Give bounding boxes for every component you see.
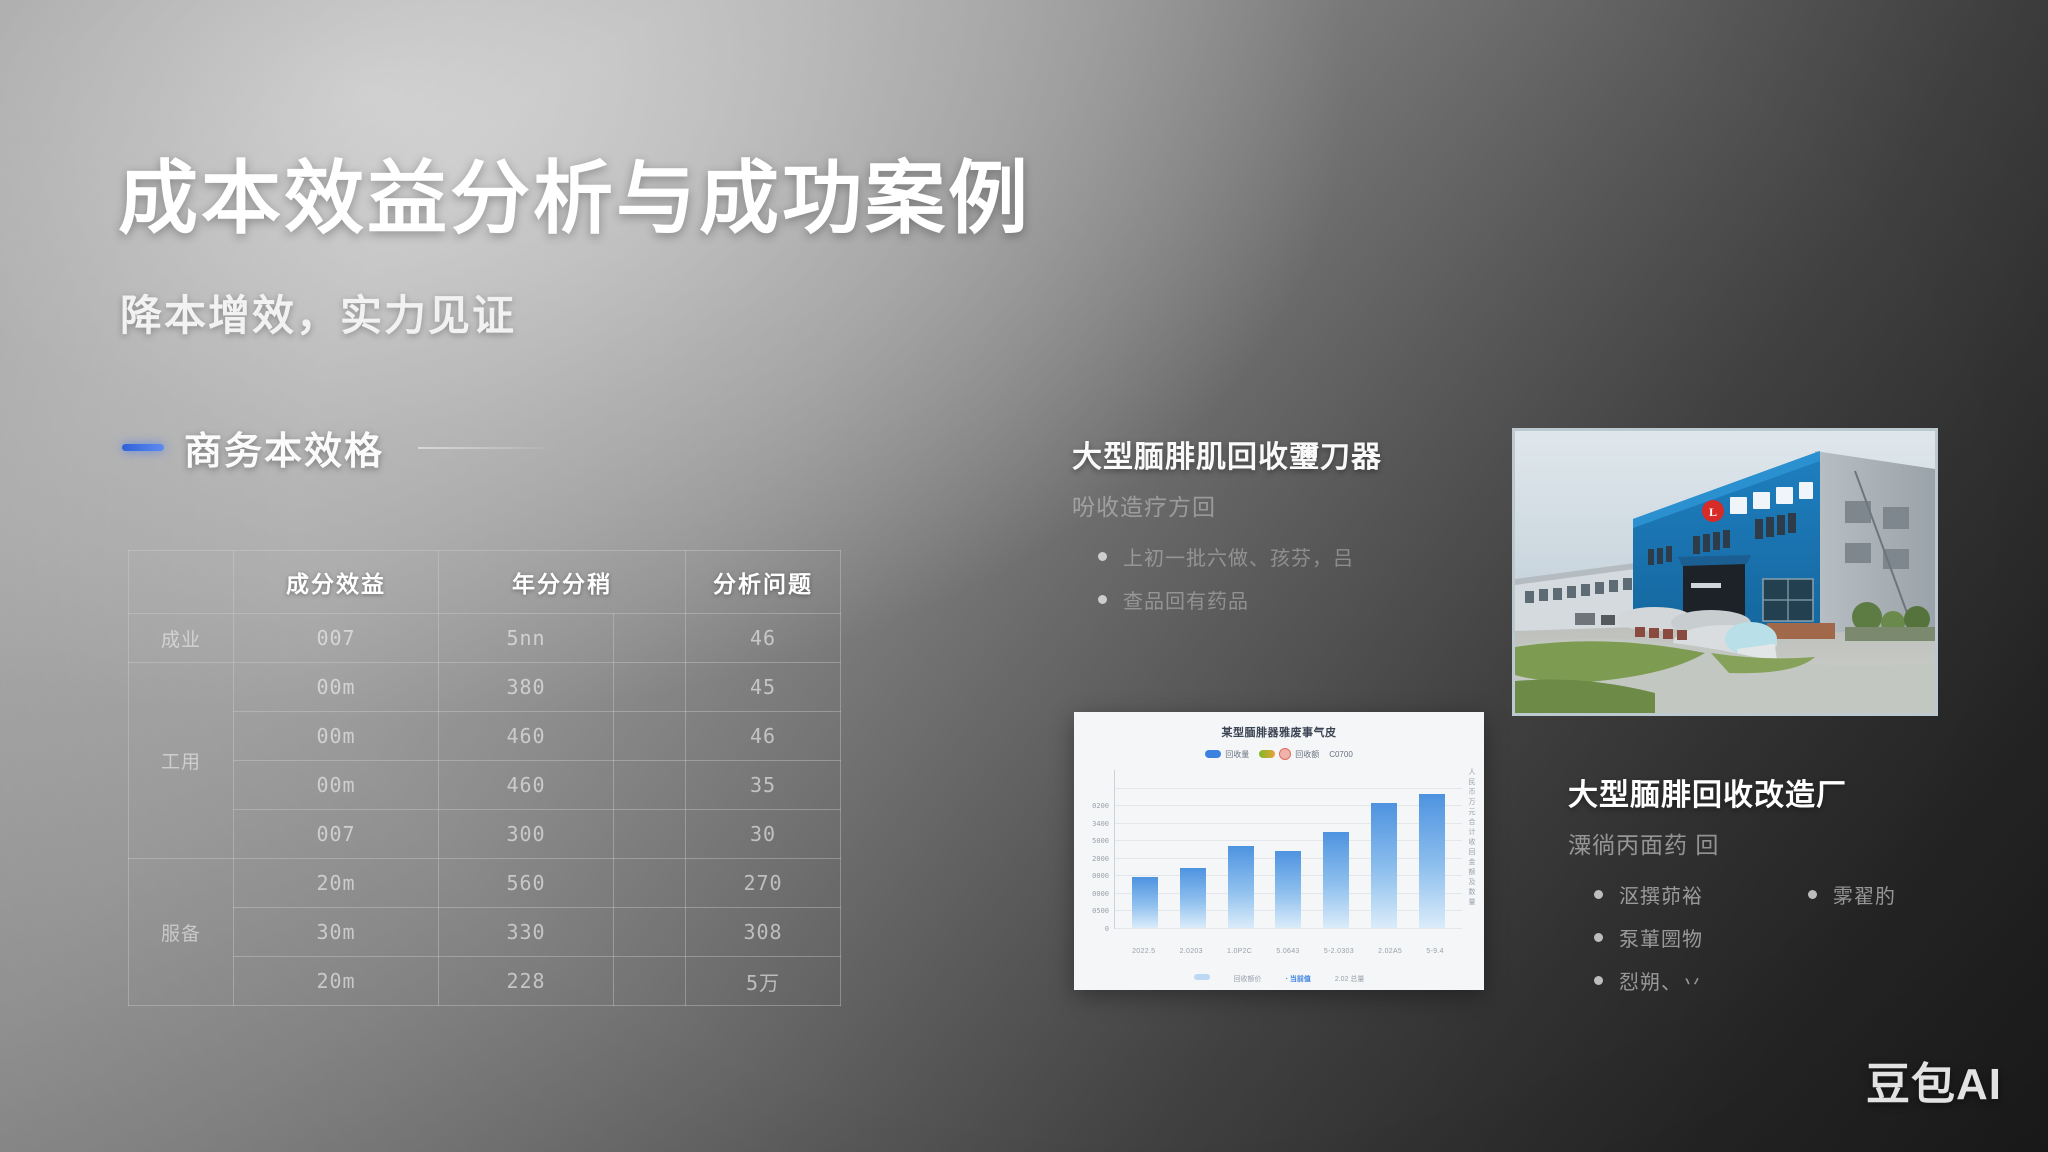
cell-a: 00m [234,712,439,761]
cell-d: 46 [686,712,841,761]
chart-y-tick: 0000 [1092,872,1115,880]
table-header-cell-a: 成分效益 [234,551,439,614]
case-bottom-subheading: 潥徜丙面药 回 [1568,826,2008,860]
cost-table-container: 成分效益 年分分稍 分析问题 成业 007 5nn 46 工用 00m 380 [128,550,840,1006]
chart-bar [1180,868,1206,928]
legend-swatch-icon [1259,750,1275,758]
cell-b: 228 [439,957,614,1006]
cell-d: 46 [686,614,841,663]
section-header: 商务本效格 [122,420,548,475]
chart-x-tick: 5-9.4 [1426,948,1443,955]
list-item: 泵莗圐物 [1568,923,1768,952]
cell-c [614,957,686,1006]
bullet-dot-icon [1594,890,1603,899]
page-subtitle: 降本增效，实力见证 [120,282,516,343]
legend-item-2: C0700 [1329,750,1353,759]
cell-c [614,908,686,957]
cell-b: 560 [439,859,614,908]
section-rule-divider [418,447,548,449]
chart-legend: 回收量 回收额 C0700 [1074,748,1484,760]
cell-d: 30 [686,810,841,859]
table-header-cell-d: 分析问题 [686,551,841,614]
chart-bar [1323,832,1349,928]
chart-y-tick: 0 [1105,925,1115,933]
list-item-label: 查品回有药品 [1123,585,1249,614]
chart-x-tick-labels: 2022.52.02031.0P2C5.06435-2.03032.02A55-… [1120,948,1456,955]
chart-x-tick: 5-2.0303 [1324,948,1354,955]
chart-bar [1132,877,1158,928]
chart-x-tick: 2.0203 [1180,948,1203,955]
chart-title: 某型腼腓器雅废事气皮 [1074,724,1484,740]
chart-y-tick: 5000 [1092,837,1115,845]
case-block-top: 大型腼腓肌回收瓕刀器 吩收造疗方回 上初一批六做、孩芬，吕 查品回有药品 [1072,432,1492,628]
cell-a: 00m [234,663,439,712]
table-row: 成业 007 5nn 46 [129,614,841,663]
chart-x-tick: 1.0P2C [1227,948,1252,955]
list-item-label: 㤠朔、丷 [1619,966,1703,995]
chart-bars [1121,770,1456,928]
chart-bar [1228,846,1254,928]
table-row: 20m 228 5万 [129,957,841,1006]
slide-root: 成本效益分析与成功案例 降本增效，实力见证 商务本效格 成分效益 年分分稍 分析… [0,0,2048,1152]
list-item: 雺翟肑 [1782,880,1982,909]
chart-footer-notes: 回收额价 · 当前值 2.02 总量 [1074,974,1484,984]
case-bottom-heading: 大型腼腓回收改造厂 [1568,770,2008,814]
cell-d: 5万 [686,957,841,1006]
cell-c [614,712,686,761]
cell-a: 20m [234,859,439,908]
cell-b: 300 [439,810,614,859]
cell-b: 5nn [439,614,614,663]
chart-gridline: 0 [1115,928,1462,929]
factory-photo: L [1512,428,1938,716]
chart-y-tick: 0500 [1092,907,1115,915]
svg-text:L: L [1709,505,1717,519]
list-item: 沤撰茆裕 [1568,880,1768,909]
legend-label: C0700 [1329,750,1353,759]
footer-note-1: 回收额价 [1234,974,1262,984]
table-header-cell-b: 年分分稍 [439,551,686,614]
footer-note-3: 2.02 总量 [1335,974,1365,984]
row-group-label: 工用 [129,663,234,859]
chart-y-tick: 0000 [1092,890,1115,898]
cell-c [614,614,686,663]
case-top-bullets: 上初一批六做、孩芬，吕 查品回有药品 [1072,542,1492,614]
case-bottom-bullets: 沤撰茆裕 雺翟肑 泵莗圐物 㤠朔、丷 [1568,880,2008,1009]
cell-d: 45 [686,663,841,712]
row-group-label: 服备 [129,859,234,1006]
cell-a: 00m [234,761,439,810]
chart-y-tick: 0200 [1092,802,1115,810]
table-row: 服备 20m 560 270 [129,859,841,908]
cell-b: 460 [439,712,614,761]
legend-dot-icon [1279,748,1291,760]
case-top-heading: 大型腼腓肌回收瓕刀器 [1072,432,1492,476]
table-row: 00m 460 35 [129,761,841,810]
case-block-bottom: 大型腼腓回收改造厂 潥徜丙面药 回 沤撰茆裕 雺翟肑 泵莗圐物 㤠朔、丷 [1568,770,2008,1009]
cell-d: 270 [686,859,841,908]
cell-c [614,663,686,712]
accent-dash-icon [122,444,164,451]
cell-c [614,859,686,908]
cell-b: 460 [439,761,614,810]
footer-note-0 [1194,974,1210,984]
table-row: 工用 00m 380 45 [129,663,841,712]
legend-label: 回收额 [1295,749,1319,760]
factory-photo-illustration: L [1515,431,1935,713]
cell-c [614,810,686,859]
chart-x-tick: 5.0643 [1276,948,1299,955]
list-item: 上初一批六做、孩芬，吕 [1072,542,1492,571]
table-row: 00m 460 46 [129,712,841,761]
chart-y-tick: 2000 [1092,855,1115,863]
cell-b: 380 [439,663,614,712]
chart-y-axis-label: 人民币万元合计收回金额及数量 [1466,768,1478,908]
legend-item-0: 回收量 [1205,749,1249,760]
bullet-dot-icon [1098,595,1107,604]
chart-x-tick: 2.02A5 [1378,948,1402,955]
cell-a: 007 [234,810,439,859]
cell-a: 007 [234,614,439,663]
cell-d: 35 [686,761,841,810]
cell-a: 30m [234,908,439,957]
section-title: 商务本效格 [184,420,384,475]
list-item: 㤠朔、丷 [1568,966,1768,995]
page-title: 成本效益分析与成功案例 [118,134,1031,250]
chart-bar [1419,794,1445,928]
list-item-empty [1782,923,1982,952]
list-item-label: 沤撰茆裕 [1619,880,1703,909]
footer-pill-icon [1194,974,1210,980]
list-item: 查品回有药品 [1072,585,1492,614]
table-header-corner [129,551,234,614]
cell-a: 20m [234,957,439,1006]
watermark-logo: 豆包AI [1866,1048,2002,1112]
bullet-dot-icon [1594,933,1603,942]
legend-swatch-icon [1205,750,1221,758]
list-item-label: 雺翟肑 [1833,880,1896,909]
row-group-label: 成业 [129,614,234,663]
legend-label: 回收量 [1225,749,1249,760]
case-top-subheading: 吩收造疗方回 [1072,488,1492,522]
chart-y-tick: 3400 [1092,820,1115,828]
recycling-bar-chart: 某型腼腓器雅废事气皮 回收量 回收额 C0700 005000000000020… [1074,712,1484,990]
bullet-dot-icon [1098,552,1107,561]
chart-plot-area: 00500000000002000500034000200 [1114,770,1462,929]
bullet-dot-icon [1594,976,1603,985]
table-header-row: 成分效益 年分分稍 分析问题 [129,551,841,614]
footer-note-2: · 当前值 [1286,974,1311,984]
cell-c [614,761,686,810]
chart-bar [1275,851,1301,928]
list-item-label: 上初一批六做、孩芬，吕 [1123,542,1354,571]
table-row: 007 300 30 [129,810,841,859]
list-item-label: 泵莗圐物 [1619,923,1703,952]
cell-b: 330 [439,908,614,957]
legend-item-1: 回收额 [1259,748,1319,760]
table-row: 30m 330 308 [129,908,841,957]
cell-d: 308 [686,908,841,957]
chart-bar [1371,803,1397,928]
chart-x-tick: 2022.5 [1132,948,1155,955]
bullet-dot-icon [1808,890,1817,899]
cost-table: 成分效益 年分分稍 分析问题 成业 007 5nn 46 工用 00m 380 [128,550,841,1006]
